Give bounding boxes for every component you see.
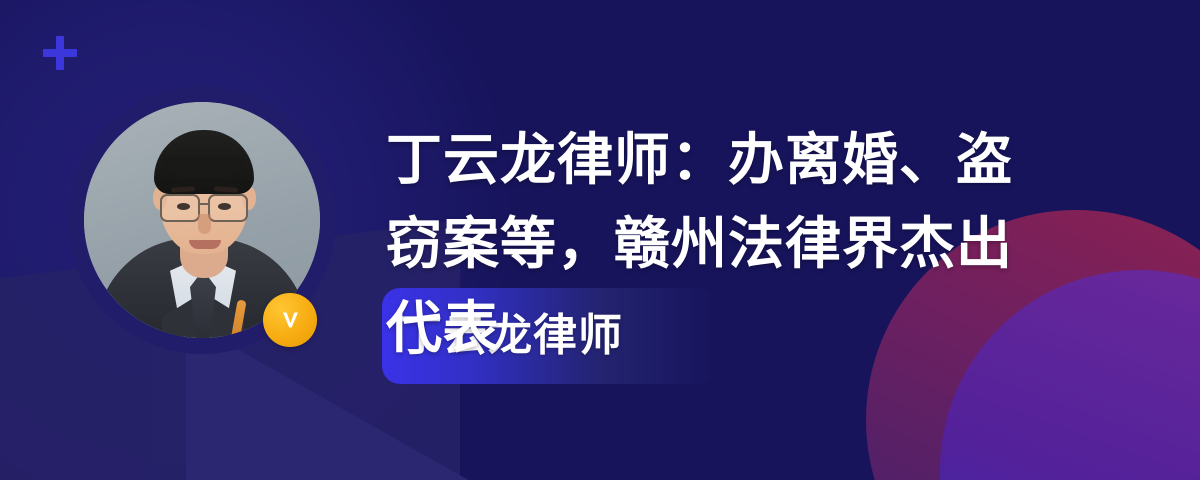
verified-check-icon (263, 293, 317, 347)
page-title: 丁云龙律师：办离婚、盗 窃案等，赣州法律界杰出 代表 (386, 118, 1086, 370)
promo-banner: 丁云龙律师 丁云龙律师：办离婚、盗 窃案等，赣州法律界杰出 代表 (0, 0, 1200, 480)
headline-block: 丁云龙律师：办离婚、盗 窃案等，赣州法律界杰出 代表 (386, 118, 1086, 370)
avatar[interactable] (68, 86, 336, 354)
plus-icon (41, 34, 79, 72)
